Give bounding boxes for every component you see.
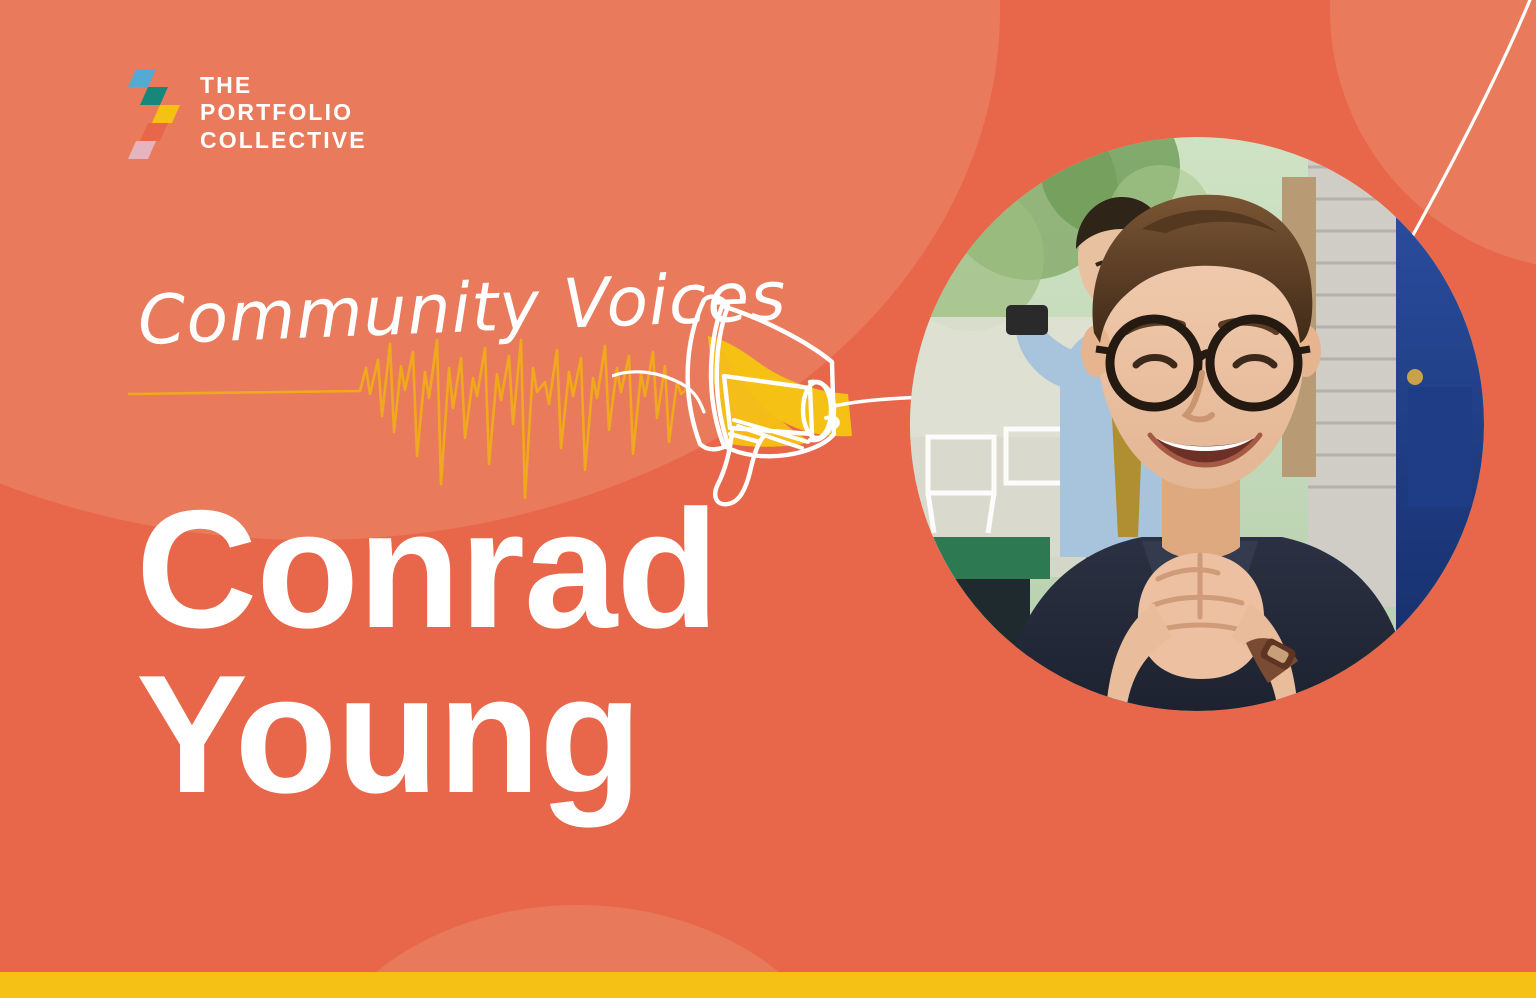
guest-last-name: Young [136, 652, 896, 817]
logo-line-3: COLLECTIVE [200, 127, 367, 154]
logo-wordmark: THE PORTFOLIO COLLECTIVE [200, 72, 367, 154]
brand-logo[interactable]: THE PORTFOLIO COLLECTIVE [126, 67, 367, 159]
community-voices-promo-card: THE PORTFOLIO COLLECTIVE Community Voice… [0, 0, 1536, 998]
guest-portrait [910, 137, 1484, 711]
portfolio-collective-chevron-mark [126, 67, 182, 159]
guest-portrait-image [910, 137, 1484, 711]
guest-name: Conrad Young [136, 487, 896, 816]
footer-accent-bar [0, 972, 1536, 998]
logo-line-1: THE [200, 72, 367, 99]
guest-first-name: Conrad [136, 487, 896, 652]
logo-line-2: PORTFOLIO [200, 99, 367, 126]
